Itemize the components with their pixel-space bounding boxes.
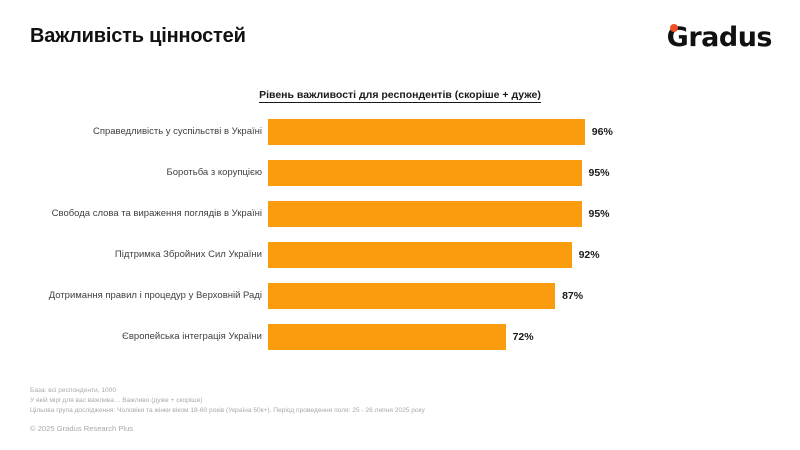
bar-category-label: Європейська інтеграція України bbox=[122, 324, 262, 350]
bar-value-label: 96% bbox=[585, 119, 613, 145]
footer: База: всі респонденти, 1000 У якій мірі … bbox=[30, 386, 770, 433]
page-title: Важливість цінностей bbox=[30, 25, 246, 48]
bar-fill[interactable] bbox=[268, 283, 555, 309]
bar-row: Боротьба з корупцією 95% bbox=[0, 160, 800, 201]
footnote-methodology: Цільова група дослідження: Чоловіки та ж… bbox=[30, 406, 770, 416]
chart-subtitle: Рівень важливості для респондентів (скор… bbox=[0, 89, 800, 101]
bar-fill[interactable] bbox=[268, 324, 506, 350]
page-header: Важливість цінностей Gradus bbox=[0, 0, 800, 72]
bar-track: 92% bbox=[268, 242, 598, 268]
bar-fill[interactable] bbox=[268, 119, 585, 145]
bar-row: Європейська інтеграція України 72% bbox=[0, 324, 800, 365]
logo-wordmark: Gradus bbox=[667, 22, 772, 53]
bar-track: 95% bbox=[268, 160, 598, 186]
bar-value-label: 95% bbox=[582, 160, 610, 186]
bar-category-label: Свобода слова та вираження поглядів в Ук… bbox=[52, 201, 262, 227]
bar-row: Дотримання правил і процедур у Верховній… bbox=[0, 283, 800, 324]
bar-track: 95% bbox=[268, 201, 598, 227]
bar-fill[interactable] bbox=[268, 160, 582, 186]
footnote-question: У якій мірі для вас важлива… Важливо (ду… bbox=[30, 396, 770, 406]
bar-row: Свобода слова та вираження поглядів в Ук… bbox=[0, 201, 800, 242]
bar-chart: Рівень важливості для респондентів (скор… bbox=[0, 72, 800, 372]
bar-category-label: Підтримка Збройних Сил України bbox=[115, 242, 262, 268]
bar-track: 72% bbox=[268, 324, 598, 350]
bar-category-label: Дотримання правил і процедур у Верховній… bbox=[49, 283, 262, 309]
bar-track: 87% bbox=[268, 283, 598, 309]
bar-category-label: Боротьба з корупцією bbox=[167, 160, 262, 186]
bar-row: Підтримка Збройних Сил України 92% bbox=[0, 242, 800, 283]
footnote-base: База: всі респонденти, 1000 bbox=[30, 386, 770, 396]
copyright-text: © 2025 Gradus Research Plus bbox=[30, 424, 770, 433]
bar-value-label: 92% bbox=[572, 242, 600, 268]
logo-dot-icon bbox=[670, 24, 678, 32]
bar-value-label: 72% bbox=[506, 324, 534, 350]
bar-fill[interactable] bbox=[268, 242, 572, 268]
brand-logo: Gradus bbox=[661, 20, 772, 54]
bar-row: Справедливість у суспільстві в Україні 9… bbox=[0, 119, 800, 160]
bar-category-label: Справедливість у суспільстві в Україні bbox=[93, 119, 262, 145]
chart-subtitle-text: Рівень важливості для респондентів (скор… bbox=[259, 89, 541, 103]
bar-track: 96% bbox=[268, 119, 598, 145]
bar-fill[interactable] bbox=[268, 201, 582, 227]
chart-plot-area: Справедливість у суспільстві в Україні 9… bbox=[0, 119, 800, 365]
bar-value-label: 95% bbox=[582, 201, 610, 227]
bar-value-label: 87% bbox=[555, 283, 583, 309]
